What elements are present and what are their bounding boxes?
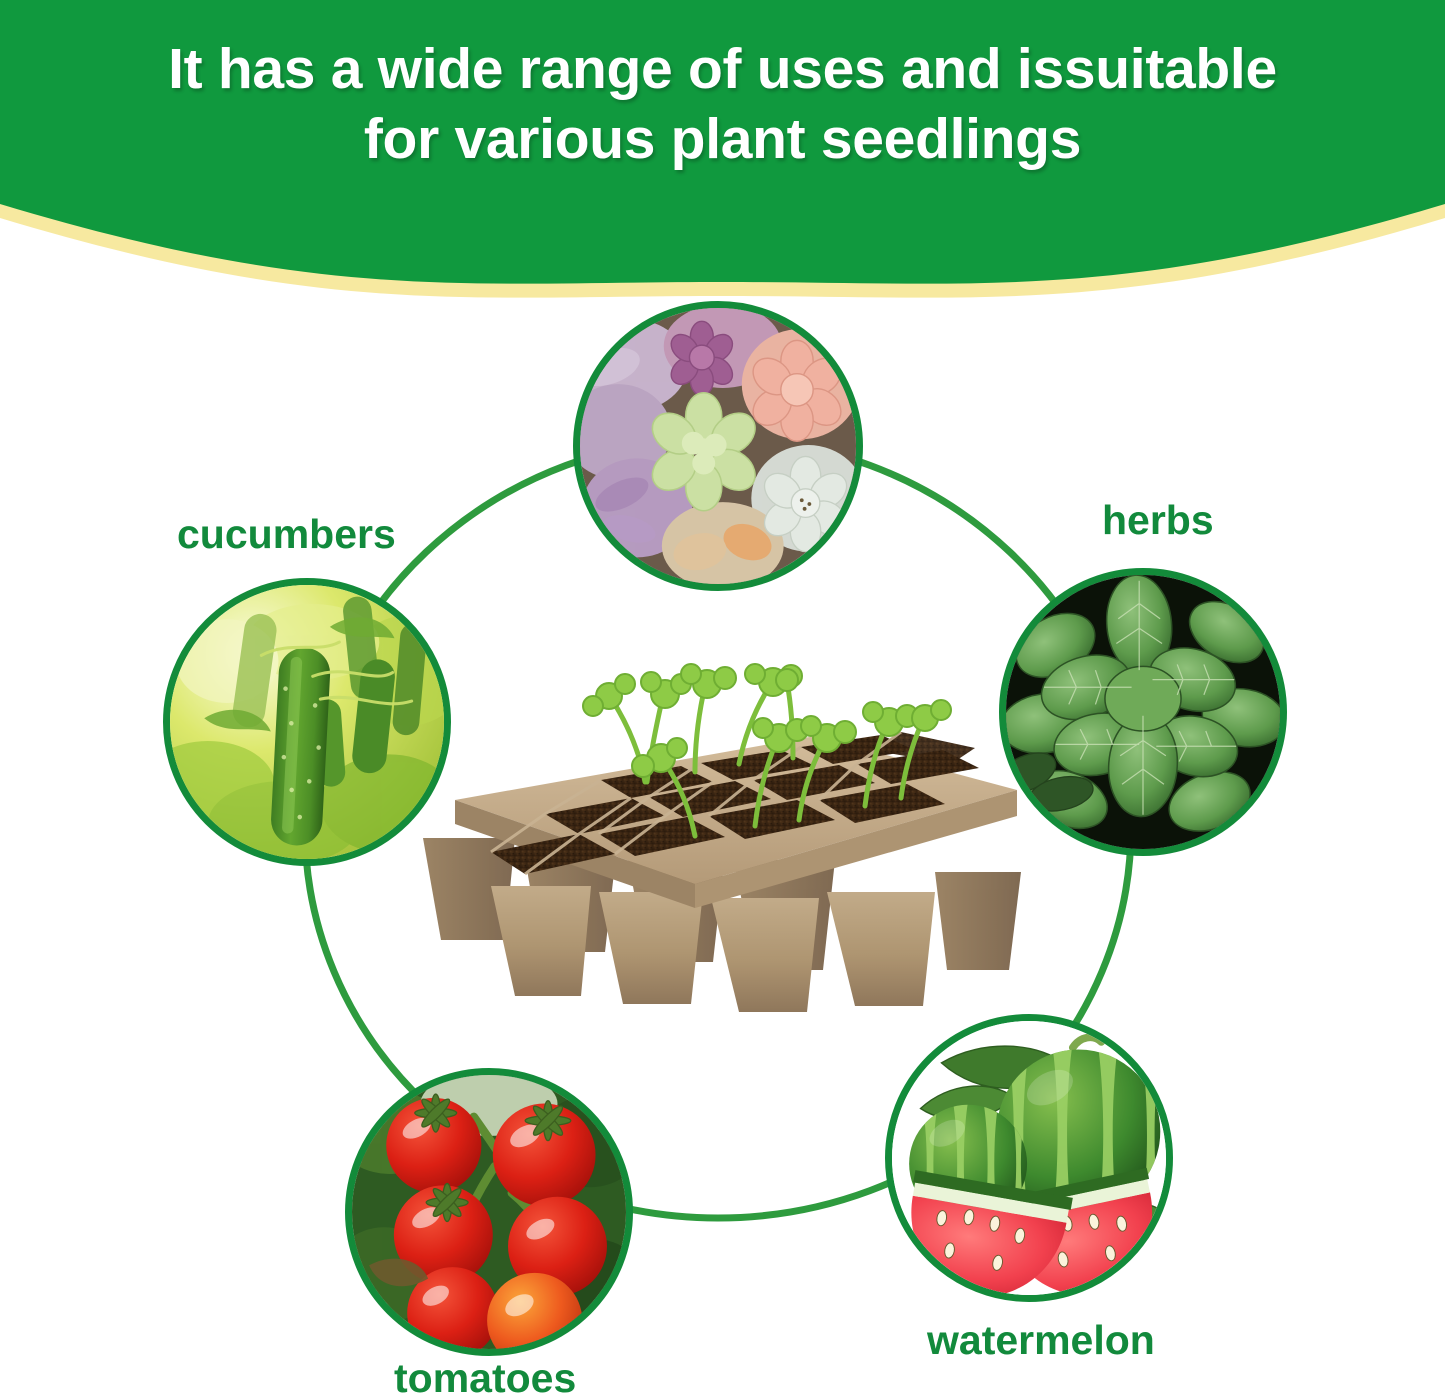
bubble-flowers[interactable] — [573, 301, 863, 591]
bubble-tomatoes[interactable] — [345, 1068, 633, 1356]
header-banner: It has a wide range of uses and issuitab… — [0, 0, 1445, 320]
label-tomatoes: tomatoes — [394, 1355, 576, 1400]
title-line-2: for various plant seedlings — [0, 104, 1445, 174]
page-title: It has a wide range of uses and issuitab… — [0, 34, 1445, 174]
succulent-flowers-photo-icon — [580, 308, 856, 584]
title-line-1: It has a wide range of uses and issuitab… — [0, 34, 1445, 104]
seedling-tray-product-image — [395, 640, 1035, 1070]
mint-herb-leaves-photo-icon — [1006, 575, 1280, 849]
label-herbs: herbs — [1102, 497, 1214, 544]
bubble-herbs[interactable] — [999, 568, 1287, 856]
tomato-cluster-photo-icon — [352, 1075, 626, 1349]
infographic-page: flowers cucumbers herbs tomatoes waterme… — [0, 0, 1445, 1400]
label-watermelon: watermelon — [927, 1317, 1155, 1364]
label-cucumbers: cucumbers — [177, 511, 396, 558]
